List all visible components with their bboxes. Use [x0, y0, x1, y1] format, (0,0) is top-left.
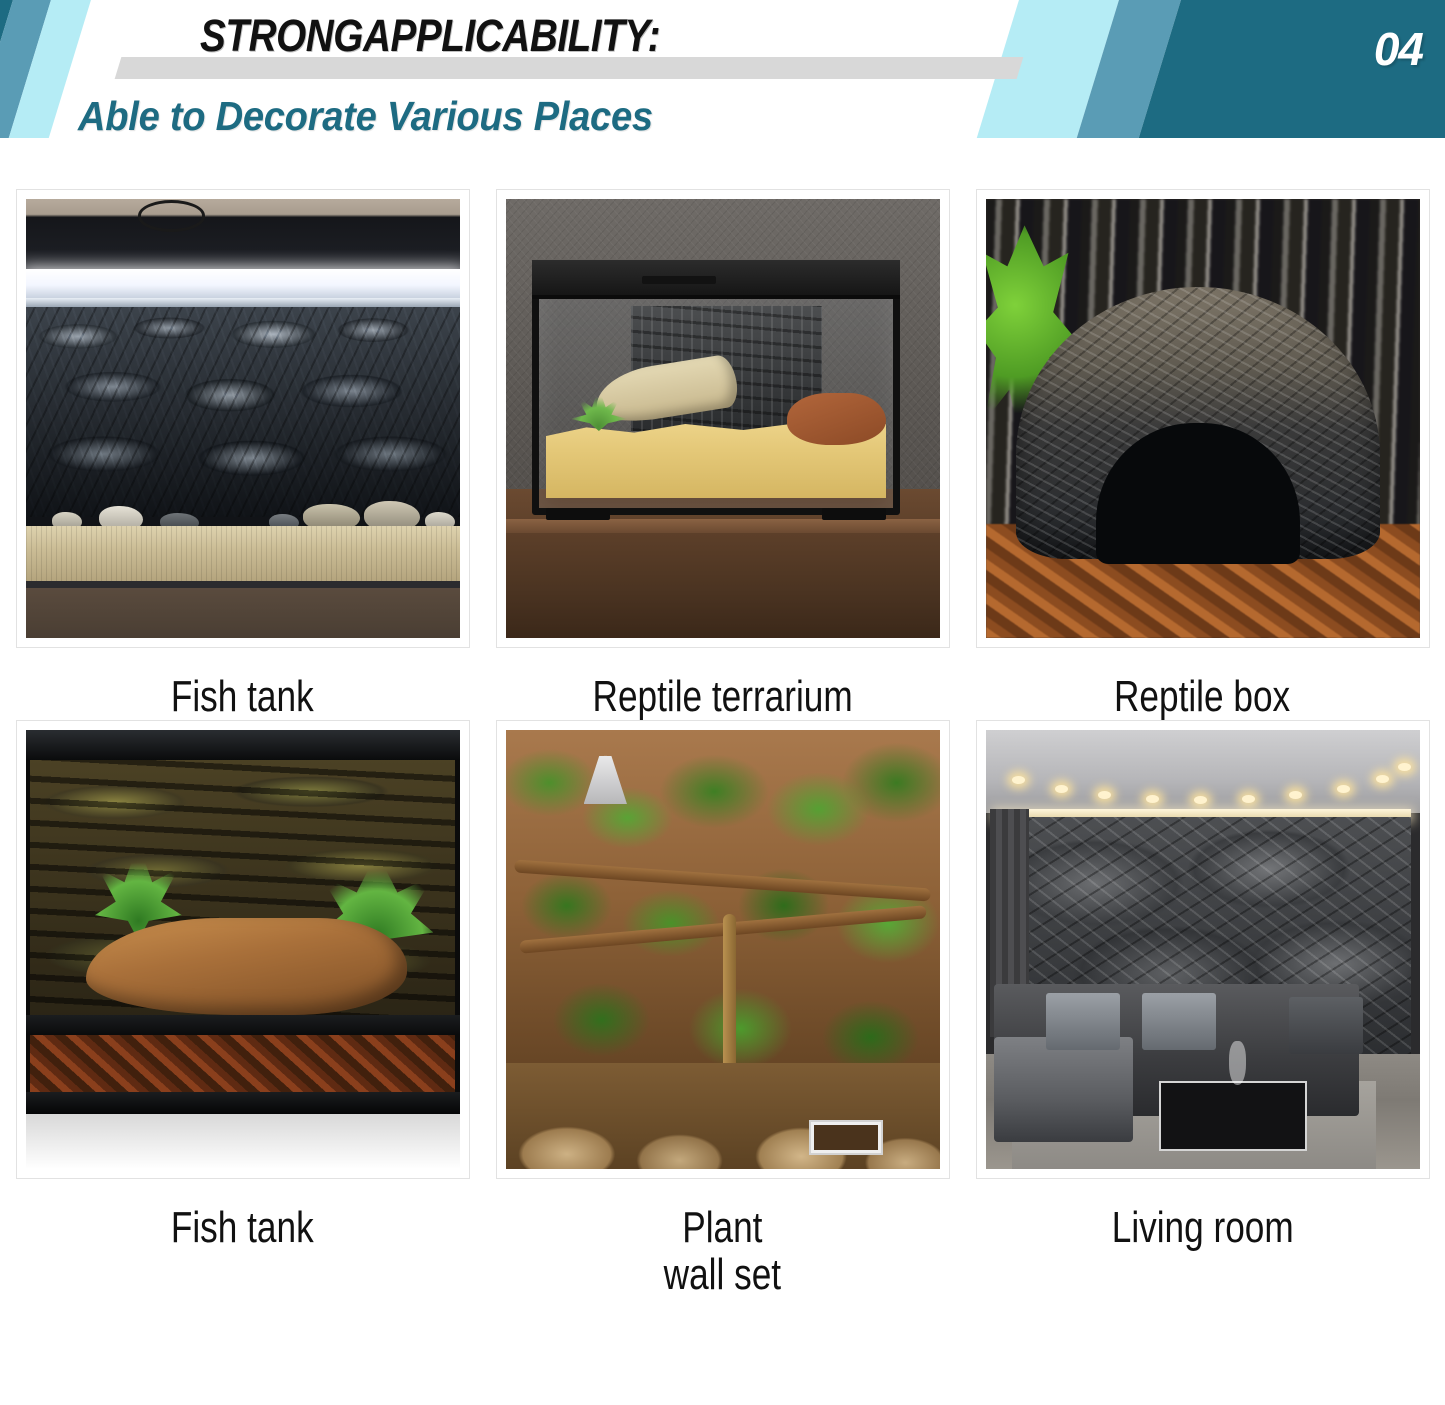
aquarium-cabinet-base [26, 581, 460, 638]
surface-reflection [26, 1114, 460, 1169]
driftwood-ornament [86, 918, 407, 1015]
aquarium-hood [26, 199, 460, 269]
photo-caption: Reptile terrarium [592, 673, 852, 721]
glass-vase [1229, 1041, 1246, 1085]
aquarium-sand-substrate [26, 526, 460, 583]
cabinet-edge [506, 519, 940, 532]
photo-caption: Plant wall set [664, 1204, 781, 1299]
sofa-cushion [1289, 997, 1363, 1054]
gallery-cell-reptile-terrarium: Reptile terrarium [496, 190, 949, 721]
bark-substrate [30, 1035, 455, 1092]
photo-caption: Fish tank [171, 1204, 314, 1252]
gallery-cell-fish-tank-2: Fish tank [16, 721, 469, 1299]
rock-background-panel [26, 307, 460, 518]
section-number-badge: 04 [1374, 22, 1423, 76]
glass-coffee-table [1159, 1081, 1307, 1151]
gallery-cell-plant-wall: Plant wall set [496, 721, 949, 1299]
sofa-chaise [994, 1037, 1133, 1142]
terrarium-mesh-lid [532, 260, 901, 298]
cave-opening [1096, 423, 1300, 565]
tank-top-frame [26, 730, 460, 761]
glass-terrarium-tank [532, 260, 901, 515]
soil-tray [809, 1120, 883, 1155]
gallery-cell-reptile-box: Reptile box [976, 190, 1429, 721]
gallery-row: Fish tank Reptile terrarium [0, 190, 1445, 721]
tank-bottom-frame [26, 1092, 460, 1114]
aquarium-light-bar [26, 269, 460, 298]
photo-living-room [977, 721, 1429, 1178]
application-gallery: Fish tank Reptile terrarium [0, 190, 1445, 1299]
page-header: STRONGAPPLICABILITY: Able to Decorate Va… [0, 0, 1445, 172]
gallery-row: Fish tank Plant wall set [0, 721, 1445, 1299]
terrarium-foot-right [822, 508, 886, 520]
gallery-cell-fish-tank-1: Fish tank [16, 190, 469, 721]
page-title: STRONGAPPLICABILITY: [200, 10, 660, 62]
photo-caption: Living room [1112, 1204, 1294, 1252]
photo-caption: Reptile box [1114, 673, 1290, 721]
photo-reptile-box [977, 190, 1429, 647]
sofa-cushion [1142, 993, 1216, 1050]
photo-caption: Fish tank [171, 673, 314, 721]
terrarium-foot-left [546, 508, 610, 520]
photo-fish-tank-aquarium [17, 190, 469, 647]
water-dish-ornament [787, 393, 886, 446]
photo-reptile-terrarium [497, 190, 949, 647]
page-subtitle: Able to Decorate Various Places [78, 93, 653, 140]
gallery-cell-living-room: Living room [976, 721, 1429, 1299]
sofa-cushion [1046, 993, 1120, 1050]
photo-mossy-terrarium [17, 721, 469, 1178]
photo-plant-wall-set [497, 721, 949, 1178]
ceiling [986, 730, 1420, 813]
bamboo-pole [723, 914, 736, 1072]
tank-middle-frame [26, 1015, 460, 1035]
